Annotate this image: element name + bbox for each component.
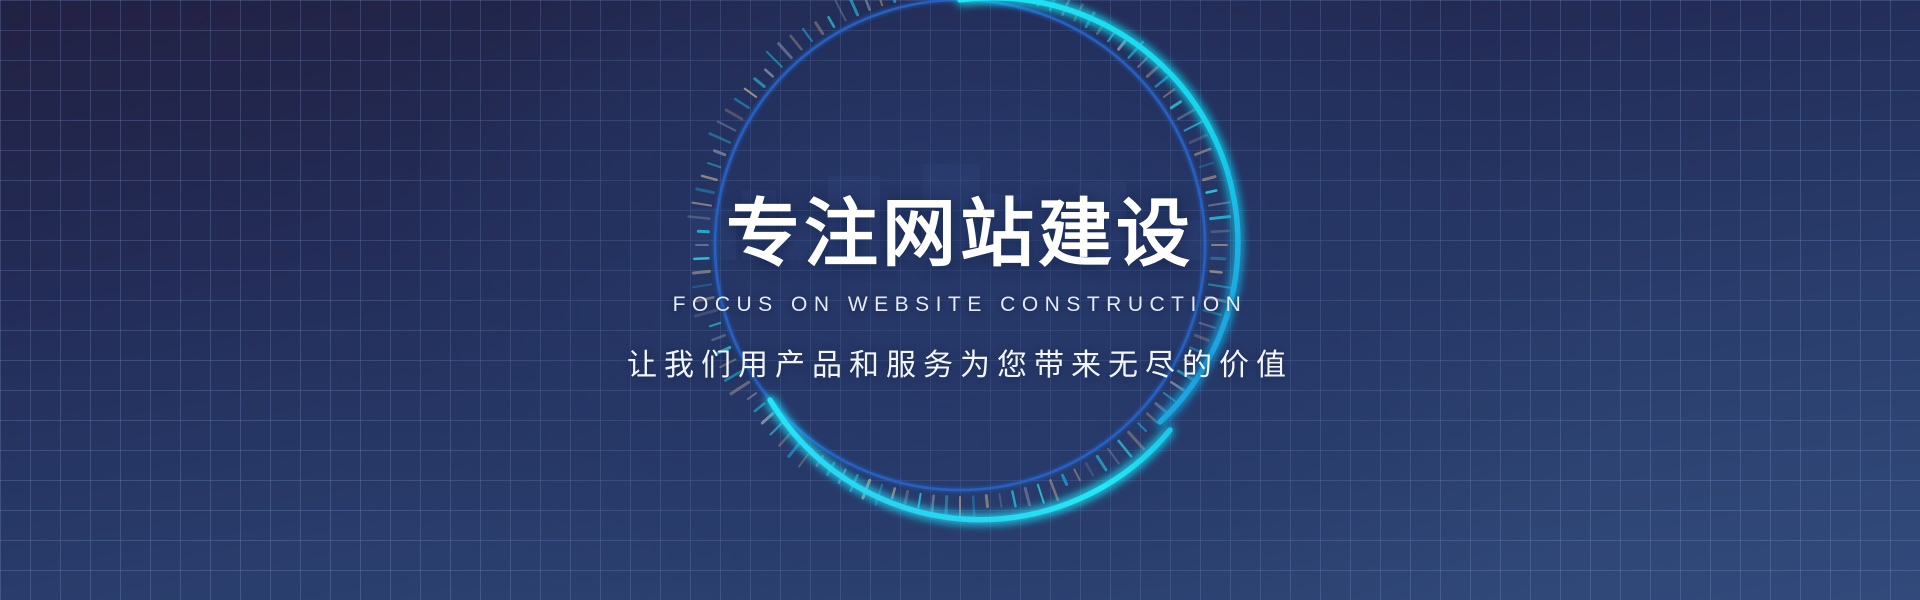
banner-subline: FOCUS ON WEBSITE CONSTRUCTION xyxy=(673,293,1248,317)
hero-banner: 专注网站建设 FOCUS ON WEBSITE CONSTRUCTION 让我们… xyxy=(0,0,1920,600)
banner-headline: 专注网站建设 xyxy=(726,196,1194,273)
banner-tagline: 让我们用产品和服务为您带来无尽的价值 xyxy=(627,340,1293,384)
banner-content: 专注网站建设 FOCUS ON WEBSITE CONSTRUCTION 让我们… xyxy=(0,0,1920,600)
